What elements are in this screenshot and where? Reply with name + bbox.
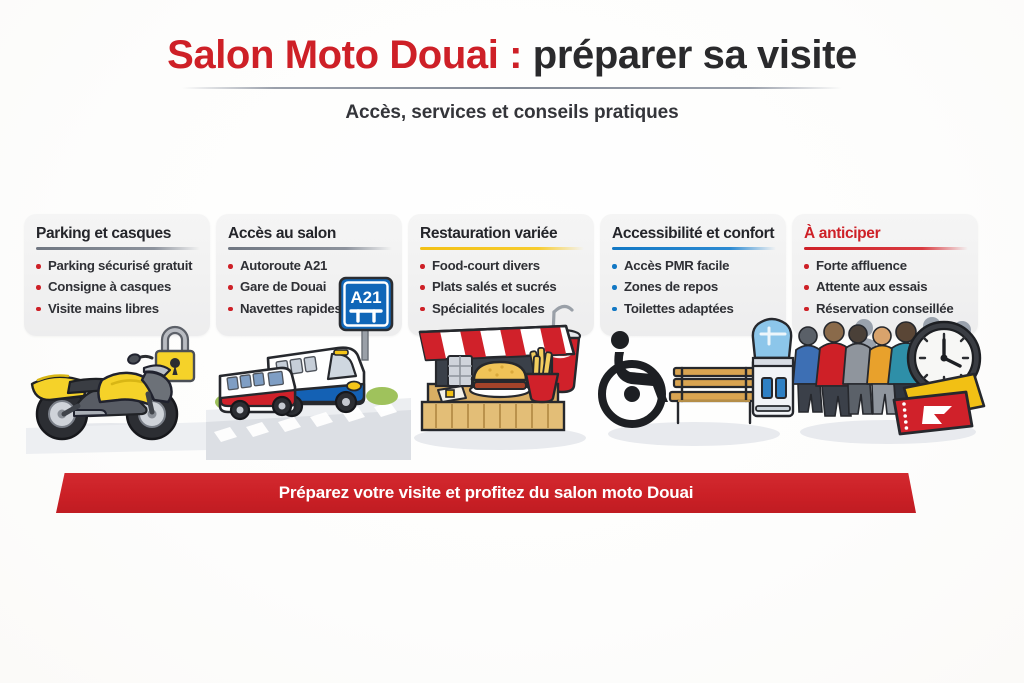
burger-icon: [470, 362, 530, 397]
card-title: Parking et casques: [36, 225, 200, 243]
bench-icon: [670, 368, 758, 423]
poster-header: Salon Moto Douai : préparer sa visite Ac…: [0, 34, 1024, 124]
fries-icon: [526, 348, 558, 402]
motorcycle-icon: [32, 353, 177, 439]
footer-banner: Préparez votre visite et profitez du sal…: [56, 473, 916, 513]
list-item: Autoroute A21: [228, 259, 392, 273]
infographic-poster: Salon Moto Douai : préparer sa visite Ac…: [0, 0, 1024, 683]
list-item: Forte affluence: [804, 259, 968, 273]
padlock-icon: [156, 327, 194, 381]
list-item: Réservation conseillée: [804, 302, 968, 316]
water-cooler-icon: [753, 319, 793, 416]
card-parking-et-casques: Parking et casques Parking sécurisé grat…: [24, 214, 210, 336]
shuttle-minibus-icon: [220, 368, 295, 419]
list-item: Parking sécurisé gratuit: [36, 259, 200, 273]
page-title: Salon Moto Douai : préparer sa visite: [0, 34, 1024, 76]
card-title: Accès au salon: [228, 225, 392, 243]
card-row: Parking et casques Parking sécurisé grat…: [24, 214, 1000, 472]
soda-cup-icon: [544, 306, 580, 392]
list-item: Navettes rapides: [228, 302, 392, 316]
list-item: Food-court divers: [420, 259, 584, 273]
card-acces-au-salon: Accès au salon Autoroute A21 Gare de Dou…: [216, 214, 402, 336]
food-stand-illustration: [404, 296, 604, 461]
list-item: Plats salés et sucrés: [420, 280, 584, 294]
list-item: Gare de Douai: [228, 280, 392, 294]
card-bullet-list: Accès PMR facile Zones de repos Toilette…: [612, 259, 776, 316]
list-item: Accès PMR facile: [612, 259, 776, 273]
card-a-anticiper: À anticiper Forte affluence Attente aux …: [792, 214, 978, 336]
card-bullet-list: Parking sécurisé gratuit Consigne à casq…: [36, 259, 200, 316]
crowd-front: [793, 322, 924, 416]
card-rule: [36, 247, 200, 250]
card-bullet-list: Food-court divers Plats salés et sucrés …: [420, 259, 584, 316]
footer-banner-text: Préparez votre visite et profitez du sal…: [279, 483, 693, 503]
list-item: Zones de repos: [612, 280, 776, 294]
list-item: Attente aux essais: [804, 280, 968, 294]
event-tickets-icon: [894, 374, 984, 434]
crowd-silhouette: [849, 317, 977, 386]
accessibility-comfort-illustration: [598, 306, 798, 461]
page-title-primary: Salon Moto Douai :: [167, 33, 522, 77]
title-divider: [182, 87, 842, 89]
card-accessibilite-et-confort: Accessibilité et confort Accès PMR facil…: [600, 214, 786, 336]
card-rule: [420, 247, 584, 250]
card-title: Accessibilité et confort: [612, 225, 776, 243]
crowd-clock-tickets-illustration: [792, 306, 992, 461]
card-title: Restauration variée: [420, 225, 584, 243]
condiment-packet-icon: [438, 386, 466, 402]
list-item: Toilettes adaptées: [612, 302, 776, 316]
card-title: À anticiper: [804, 225, 968, 243]
shuttle-vehicles-illustration: [206, 310, 411, 460]
page-title-secondary: préparer sa visite: [533, 33, 857, 77]
list-item: Consigne à casques: [36, 280, 200, 294]
coach-bus-icon: [268, 348, 364, 416]
motorcycle-and-padlock-illustration: [18, 310, 218, 460]
page-subtitle: Accès, services et conseils pratiques: [0, 102, 1024, 124]
list-item: Visite mains libres: [36, 302, 200, 316]
card-bullet-list: Autoroute A21 Gare de Douai Navettes rap…: [228, 259, 392, 316]
wall-clock-icon: [908, 322, 980, 394]
list-item: Spécialités locales: [420, 302, 584, 316]
wheelchair-icon: [602, 331, 668, 424]
card-rule: [228, 247, 392, 250]
card-bullet-list: Forte affluence Attente aux essais Réser…: [804, 259, 968, 316]
card-restauration-variee: Restauration variée Food-court divers Pl…: [408, 214, 594, 336]
card-rule: [804, 247, 968, 250]
card-rule: [612, 247, 776, 250]
